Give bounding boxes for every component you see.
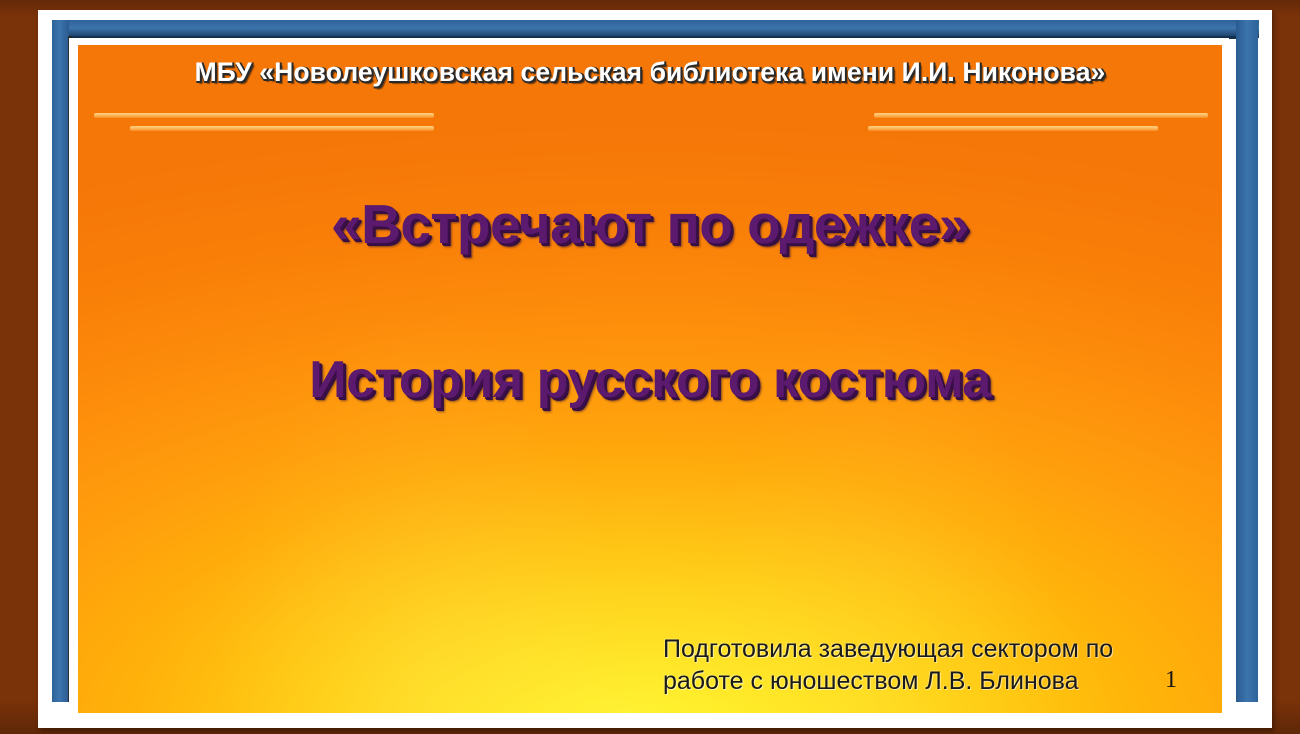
author-credit: Подготовила заведующая сектором по работ… [663, 633, 1188, 697]
decorative-rule [94, 113, 434, 118]
slide-title: «Встречают по одежке» [78, 192, 1222, 256]
author-credit-line-1: Подготовила заведующая сектором по [663, 633, 1188, 665]
decorative-rule [874, 113, 1208, 118]
decorative-rules-left [94, 113, 434, 139]
decorative-rules-right [868, 113, 1208, 139]
decorative-rule [130, 126, 434, 131]
blue-frame-left [52, 20, 69, 702]
blue-frame-right [1236, 20, 1258, 702]
decorative-rule [868, 126, 1158, 131]
author-credit-line-2: работе с юношеством Л.В. Блинова [663, 665, 1188, 697]
slide-subtitle: История русского костюма [78, 350, 1222, 410]
slide-number: 1 [1165, 667, 1177, 694]
presentation-slide: МБУ «Новолеушковская сельская библиотека… [0, 0, 1300, 734]
organization-header: МБУ «Новолеушковская сельская библиотека… [78, 57, 1222, 88]
slide-canvas: МБУ «Новолеушковская сельская библиотека… [78, 45, 1222, 713]
